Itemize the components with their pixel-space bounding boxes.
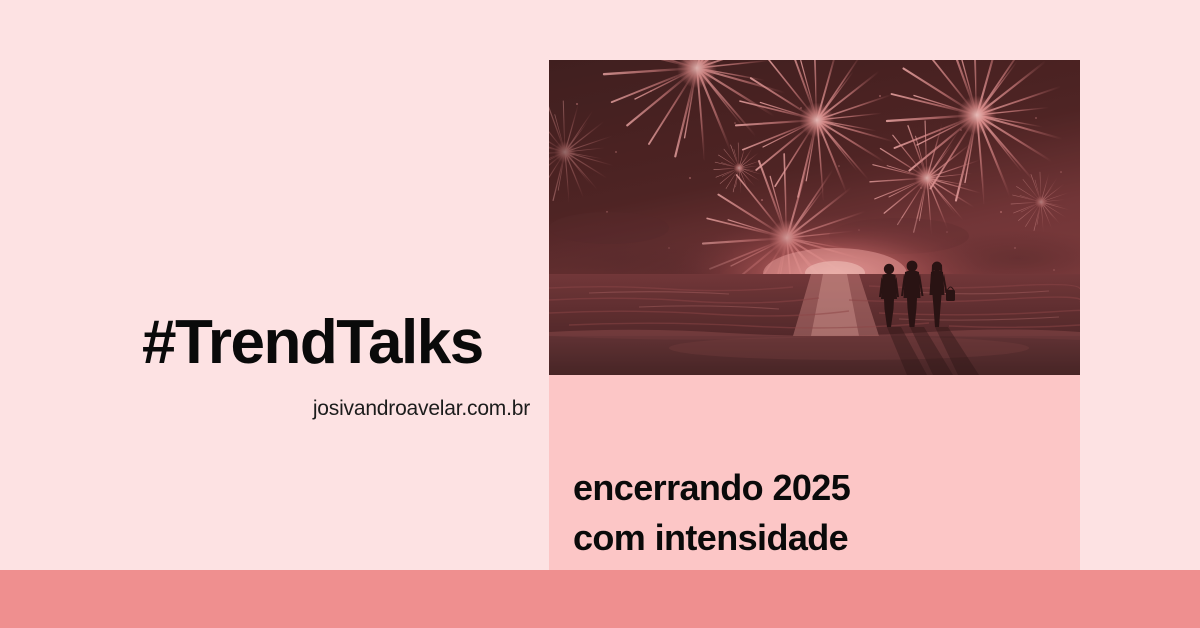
fireworks-photo xyxy=(549,60,1080,375)
caption-panel: encerrando 2025 com intensidade xyxy=(549,375,1080,570)
page-title: #TrendTalks xyxy=(142,312,483,374)
caption-line-1: encerrando 2025 xyxy=(573,470,850,506)
bottom-accent-bar xyxy=(0,570,1200,628)
left-text-column: #TrendTalks josivandroavelar.com.br xyxy=(0,0,549,570)
fireworks-photo-graphic xyxy=(549,60,1080,375)
social-banner: #TrendTalks josivandroavelar.com.br xyxy=(0,0,1200,628)
website-url: josivandroavelar.com.br xyxy=(313,398,530,419)
feature-card: encerrando 2025 com intensidade xyxy=(549,60,1080,570)
caption-line-2: com intensidade xyxy=(573,520,848,556)
